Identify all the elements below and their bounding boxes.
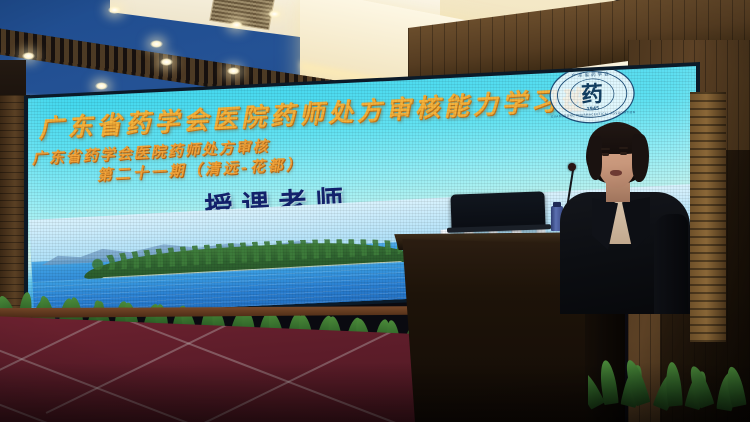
speaker-hair-side-right <box>632 134 649 182</box>
association-logo: 药 广东省药学会 GUANGDONG PHARMACEUTICAL ASSOCI… <box>545 66 640 128</box>
svg-text:药: 药 <box>581 82 604 108</box>
downlight-icon <box>22 52 35 60</box>
speaker-eyebrow-right <box>619 147 628 149</box>
downlight-icon <box>150 40 163 48</box>
downlight-icon <box>268 10 281 18</box>
speaker-hair-side-left <box>587 136 602 180</box>
downlight-icon <box>95 82 108 90</box>
downlight-icon <box>160 58 173 66</box>
svg-text:1945: 1945 <box>586 106 599 113</box>
speaker-eye-left <box>602 153 609 156</box>
screen-frame-right <box>690 92 726 342</box>
downlight-icon <box>108 6 121 14</box>
right-foreground-plants <box>588 352 750 422</box>
conference-photo-scene: 广东省药学会医院药师处方审核能力学习班 广东省药学会医院药师处方审核 第二十一期… <box>0 0 750 422</box>
speaker-arm-right <box>654 214 688 314</box>
downlight-icon <box>227 67 240 75</box>
speaker-eye-right <box>620 152 627 155</box>
speaker-mouth <box>610 170 622 176</box>
speaker-eyebrow-left <box>601 148 610 150</box>
speaker-person <box>566 122 684 312</box>
downlight-icon <box>230 21 243 29</box>
association-logo-icon: 药 广东省药学会 GUANGDONG PHARMACEUTICAL ASSOCI… <box>545 66 640 128</box>
water-bottle-cap <box>553 202 561 207</box>
